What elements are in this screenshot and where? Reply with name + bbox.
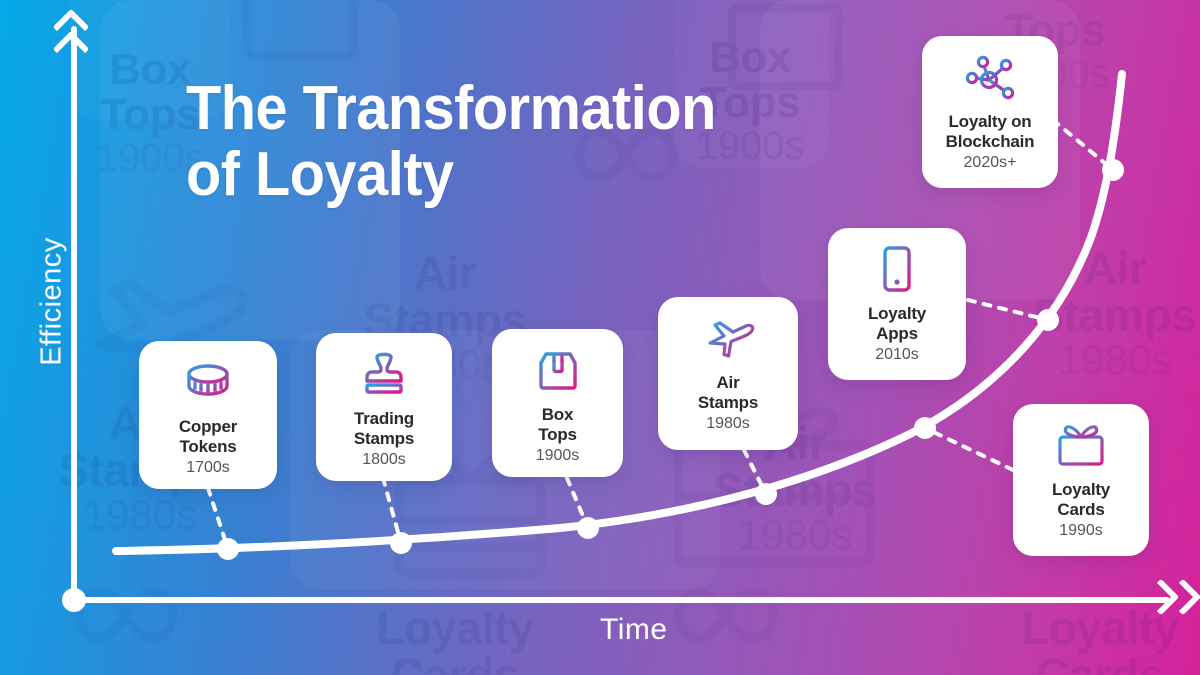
card-title: CopperTokens (179, 417, 237, 456)
card-title: BoxTops (538, 405, 577, 444)
card-year: 2010s (875, 346, 919, 364)
card-loyalty-cards[interactable]: LoyaltyCards 1990s (1013, 404, 1149, 556)
gift-card-icon (1054, 420, 1108, 472)
connector-loyalty-cards (925, 428, 1013, 470)
card-loyalty-on-blockchain[interactable]: Loyalty onBlockchain 2020s+ (922, 36, 1058, 188)
card-year: 1990s (1059, 522, 1103, 540)
data-point-trading-stamps (390, 532, 412, 554)
card-year: 2020s+ (964, 154, 1017, 172)
coin-stack-icon (181, 357, 235, 409)
connector-loyalty-apps (968, 300, 1048, 320)
card-air-stamps[interactable]: AirStamps 1980s (658, 297, 798, 450)
card-year: 1980s (706, 415, 750, 433)
card-year: 1800s (362, 451, 406, 469)
cardboard-box-icon (535, 345, 581, 397)
card-title: Loyalty onBlockchain (946, 112, 1035, 151)
data-point-loyalty-cards (914, 417, 936, 439)
card-title: LoyaltyApps (868, 304, 926, 343)
card-copper-tokens[interactable]: CopperTokens 1700s (139, 341, 277, 489)
card-trading-stamps[interactable]: TradingStamps 1800s (316, 333, 452, 481)
card-year: 1700s (186, 459, 230, 477)
data-point-box-tops (577, 517, 599, 539)
card-title: LoyaltyCards (1052, 480, 1110, 519)
data-point-air-stamps (755, 483, 777, 505)
card-year: 1900s (536, 447, 580, 465)
data-point-loyalty-apps (1037, 309, 1059, 331)
infographic-canvas: BoxTops 1900s BoxTops 1900s BoxTops 1900… (0, 0, 1200, 675)
airplane-icon (701, 313, 755, 365)
card-box-tops[interactable]: BoxTops 1900s (492, 329, 623, 477)
page-title: The Transformationof Loyalty (186, 76, 716, 209)
data-point-copper-tokens (217, 538, 239, 560)
card-loyalty-apps[interactable]: LoyaltyApps 2010s (828, 228, 966, 380)
smartphone-icon (880, 244, 914, 296)
data-point-loyalty-blockchain (1102, 159, 1124, 181)
blockchain-nodes-icon (961, 52, 1019, 104)
card-title: AirStamps (698, 373, 758, 412)
rubber-stamp-icon (359, 349, 409, 401)
card-title: TradingStamps (354, 409, 414, 448)
